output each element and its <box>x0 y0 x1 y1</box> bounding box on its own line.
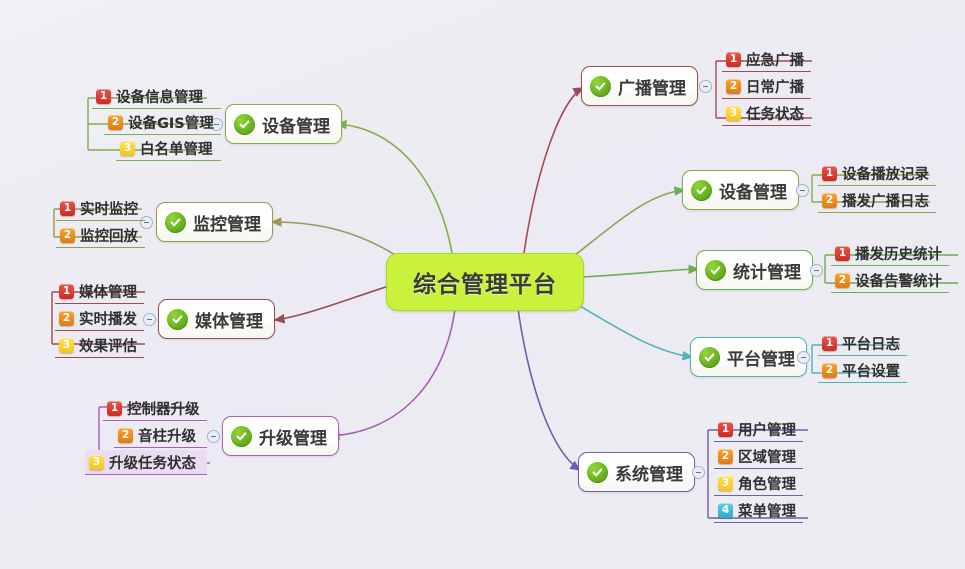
leaf-group-system-mgmt: 1 用户管理 2 区域管理 3 角色管理 4 菜单管理 <box>714 417 803 523</box>
leaf-underline <box>56 220 145 221</box>
branch-label: 升级管理 <box>259 424 327 449</box>
check-icon <box>587 462 608 483</box>
leaf-label: 用户管理 <box>738 419 796 440</box>
badge-number: 2 <box>60 228 75 243</box>
leaf-underline <box>55 303 144 304</box>
leaf-item[interactable]: 2 实时播发 <box>55 306 144 331</box>
check-icon <box>590 76 611 97</box>
leaf-item[interactable]: 2 区域管理 <box>714 444 803 469</box>
center-node-label: 综合管理平台 <box>413 265 557 299</box>
leaf-label: 平台日志 <box>842 333 900 354</box>
leaf-underline <box>104 134 221 135</box>
leaf-label: 设备播放记录 <box>842 163 929 184</box>
leaf-label: 播发历史统计 <box>855 243 942 264</box>
leaf-underline <box>831 265 949 266</box>
leaf-label: 设备告警统计 <box>855 270 942 291</box>
branch-label: 平台管理 <box>727 345 795 370</box>
leaf-label: 平台设置 <box>842 360 900 381</box>
check-icon <box>705 260 726 281</box>
badge-number: 1 <box>96 89 111 104</box>
branch-node-system-mgmt[interactable]: 系统管理 <box>578 452 695 492</box>
leaf-item[interactable]: 1 控制器升级 <box>103 396 207 421</box>
badge-number: 1 <box>59 284 74 299</box>
collapse-toggle-media-mgmt[interactable] <box>143 313 156 326</box>
leaf-underline <box>722 71 811 72</box>
leaf-underline <box>714 468 803 469</box>
leaf-item[interactable]: 2 日常广播 <box>722 74 811 99</box>
leaf-item[interactable]: 2 设备GIS管理 <box>104 110 221 135</box>
leaf-item[interactable]: 4 菜单管理 <box>714 498 803 523</box>
badge-number: 2 <box>835 273 850 288</box>
leaf-label: 任务状态 <box>746 103 804 124</box>
badge-number: 1 <box>822 336 837 351</box>
leaf-underline <box>722 125 811 126</box>
leaf-label: 音柱升级 <box>138 425 196 446</box>
leaf-group-platform-mgmt: 1 平台日志 2 平台设置 <box>818 331 907 383</box>
leaf-item[interactable]: 2 监控回放 <box>56 223 145 248</box>
leaf-group-device-mgmt-right: 1 设备播放记录 2 播发广播日志 <box>818 161 936 213</box>
badge-number: 1 <box>822 166 837 181</box>
leaf-item[interactable]: 2 设备告警统计 <box>831 268 949 293</box>
leaf-item[interactable]: 1 平台日志 <box>818 331 907 356</box>
collapse-toggle-broadcast-mgmt[interactable] <box>699 80 712 93</box>
leaf-item[interactable]: 3 白名单管理 <box>116 136 221 161</box>
badge-number: 4 <box>718 503 733 518</box>
leaf-item[interactable]: 1 应急广播 <box>722 47 811 72</box>
leaf-item[interactable]: 2 播发广播日志 <box>818 188 936 213</box>
leaf-item[interactable]: 3 效果评估 <box>55 333 144 358</box>
branch-label: 设备管理 <box>262 112 330 137</box>
leaf-label: 应急广播 <box>746 49 804 70</box>
branch-node-device-mgmt-right[interactable]: 设备管理 <box>682 170 799 210</box>
leaf-label: 升级任务状态 <box>109 452 196 473</box>
leaf-underline <box>818 185 936 186</box>
check-icon <box>165 212 186 233</box>
branch-node-monitor-mgmt[interactable]: 监控管理 <box>156 202 273 242</box>
branch-label: 设备管理 <box>719 178 787 203</box>
leaf-underline <box>55 330 144 331</box>
leaf-item[interactable]: 1 设备信息管理 <box>92 84 221 109</box>
branch-label: 统计管理 <box>733 258 801 283</box>
leaf-label: 区域管理 <box>738 446 796 467</box>
badge-number: 2 <box>822 363 837 378</box>
leaf-label: 监控回放 <box>80 225 138 246</box>
badge-number: 3 <box>718 476 733 491</box>
leaf-label: 设备GIS管理 <box>128 112 214 133</box>
leaf-item[interactable]: 2 平台设置 <box>818 358 907 383</box>
badge-number: 1 <box>726 52 741 67</box>
leaf-underline <box>714 495 803 496</box>
leaf-label: 实时播发 <box>79 308 137 329</box>
branch-node-stats-mgmt[interactable]: 统计管理 <box>696 250 813 290</box>
leaf-label: 控制器升级 <box>127 398 200 419</box>
leaf-label: 播发广播日志 <box>842 190 929 211</box>
badge-number: 1 <box>107 401 122 416</box>
leaf-label: 白名单管理 <box>140 138 213 159</box>
collapse-toggle-device-mgmt-right[interactable] <box>796 184 809 197</box>
leaf-underline <box>56 247 145 248</box>
branch-node-media-mgmt[interactable]: 媒体管理 <box>158 299 275 339</box>
badge-number: 2 <box>726 79 741 94</box>
leaf-underline <box>722 98 811 99</box>
badge-number: 1 <box>835 246 850 261</box>
badge-number: 2 <box>822 193 837 208</box>
leaf-label: 日常广播 <box>746 76 804 97</box>
collapse-toggle-upgrade-mgmt[interactable] <box>207 430 220 443</box>
center-node[interactable]: 综合管理平台 <box>386 253 584 311</box>
branch-label: 广播管理 <box>618 74 686 99</box>
badge-number: 2 <box>118 428 133 443</box>
branch-label: 监控管理 <box>193 210 261 235</box>
leaf-item[interactable]: 1 实时监控 <box>56 196 145 221</box>
leaf-underline <box>114 447 207 448</box>
check-icon <box>699 347 720 368</box>
badge-number: 3 <box>120 141 135 156</box>
collapse-toggle-system-mgmt[interactable] <box>692 466 705 479</box>
leaf-group-monitor-mgmt: 1 实时监控 2 监控回放 <box>56 196 145 248</box>
leaf-underline <box>92 108 221 109</box>
leaf-item[interactable]: 3 角色管理 <box>714 471 803 496</box>
leaf-group-media-mgmt: 1 媒体管理 2 实时播发 3 效果评估 <box>55 279 144 358</box>
badge-number: 3 <box>726 106 741 121</box>
badge-number: 1 <box>60 201 75 216</box>
badge-number: 3 <box>59 338 74 353</box>
leaf-group-broadcast-mgmt: 1 应急广播 2 日常广播 3 任务状态 <box>722 47 811 126</box>
leaf-underline <box>818 212 936 213</box>
badge-number: 2 <box>59 311 74 326</box>
check-icon <box>691 180 712 201</box>
check-icon <box>231 426 252 447</box>
leaf-underline <box>116 160 221 161</box>
leaf-underline <box>714 522 803 523</box>
check-icon <box>234 114 255 135</box>
leaf-item[interactable]: 1 设备播放记录 <box>818 161 936 186</box>
check-icon <box>167 309 188 330</box>
leaf-label: 角色管理 <box>738 473 796 494</box>
leaf-item[interactable]: 1 播发历史统计 <box>831 241 949 266</box>
badge-number: 3 <box>89 455 104 470</box>
leaf-item[interactable]: 3 任务状态 <box>722 101 811 126</box>
leaf-underline <box>818 355 907 356</box>
leaf-group-upgrade-mgmt: 1 控制器升级 2 音柱升级 3 升级任务状态 <box>103 396 207 475</box>
leaf-underline <box>103 420 207 421</box>
leaf-group-device-mgmt-left: 1 设备信息管理 2 设备GIS管理 3 白名单管理 <box>92 84 221 161</box>
badge-number: 2 <box>718 449 733 464</box>
branch-label: 系统管理 <box>615 460 683 485</box>
leaf-underline <box>818 382 907 383</box>
leaf-underline <box>85 474 207 475</box>
branch-node-device-mgmt-left[interactable]: 设备管理 <box>225 104 342 144</box>
leaf-underline <box>831 292 949 293</box>
leaf-item[interactable]: 1 媒体管理 <box>55 279 144 304</box>
branch-node-broadcast-mgmt[interactable]: 广播管理 <box>581 66 698 106</box>
collapse-toggle-platform-mgmt[interactable] <box>797 351 810 364</box>
badge-number: 2 <box>108 115 123 130</box>
leaf-item[interactable]: 3 升级任务状态 <box>85 450 207 475</box>
leaf-label: 效果评估 <box>79 335 137 356</box>
branch-node-upgrade-mgmt[interactable]: 升级管理 <box>222 416 339 456</box>
leaf-item[interactable]: 1 用户管理 <box>714 417 803 442</box>
leaf-label: 实时监控 <box>80 198 138 219</box>
branch-label: 媒体管理 <box>195 307 263 332</box>
collapse-toggle-stats-mgmt[interactable] <box>810 264 823 277</box>
branch-node-platform-mgmt[interactable]: 平台管理 <box>690 337 807 377</box>
leaf-group-stats-mgmt: 1 播发历史统计 2 设备告警统计 <box>831 241 949 293</box>
leaf-item[interactable]: 2 音柱升级 <box>114 423 207 448</box>
leaf-label: 菜单管理 <box>738 500 796 521</box>
leaf-label: 媒体管理 <box>79 281 137 302</box>
mindmap-canvas: 综合管理平台 设备管理 1 设备信息管理 2 设备GIS管理 3 白名单管理 监… <box>0 0 965 569</box>
leaf-underline <box>714 441 803 442</box>
leaf-label: 设备信息管理 <box>116 86 203 107</box>
badge-number: 1 <box>718 422 733 437</box>
leaf-underline <box>55 357 144 358</box>
